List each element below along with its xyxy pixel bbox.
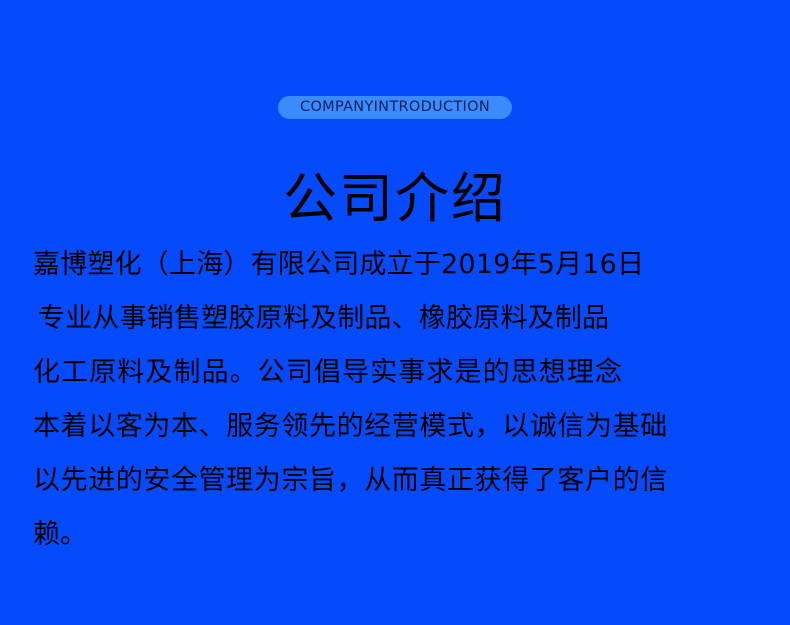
company-introduction-banner: COMPANYINTRODUCTION 公司介绍 嘉博塑化（上海）有限公司成立于… bbox=[0, 0, 790, 625]
description-line: 本着以客为本、服务领先的经营模式，以诚信为基础 bbox=[33, 400, 759, 454]
section-eyebrow-badge: COMPANYINTRODUCTION bbox=[278, 96, 512, 119]
description-line: 化工原料及制品。公司倡导实事求是的思想理念 bbox=[33, 346, 759, 400]
description-line: 专业从事销售塑胶原料及制品、橡胶原料及制品 bbox=[33, 292, 759, 346]
company-description: 嘉博塑化（上海）有限公司成立于2019年5月16日 专业从事销售塑胶原料及制品、… bbox=[33, 238, 759, 562]
description-line: 赖。 bbox=[33, 508, 759, 562]
badge-container: COMPANYINTRODUCTION bbox=[0, 96, 790, 119]
description-line: 嘉博塑化（上海）有限公司成立于2019年5月16日 bbox=[33, 238, 759, 292]
description-line: 以先进的安全管理为宗旨，从而真正获得了客户的信 bbox=[33, 454, 759, 508]
page-title: 公司介绍 bbox=[283, 168, 507, 230]
